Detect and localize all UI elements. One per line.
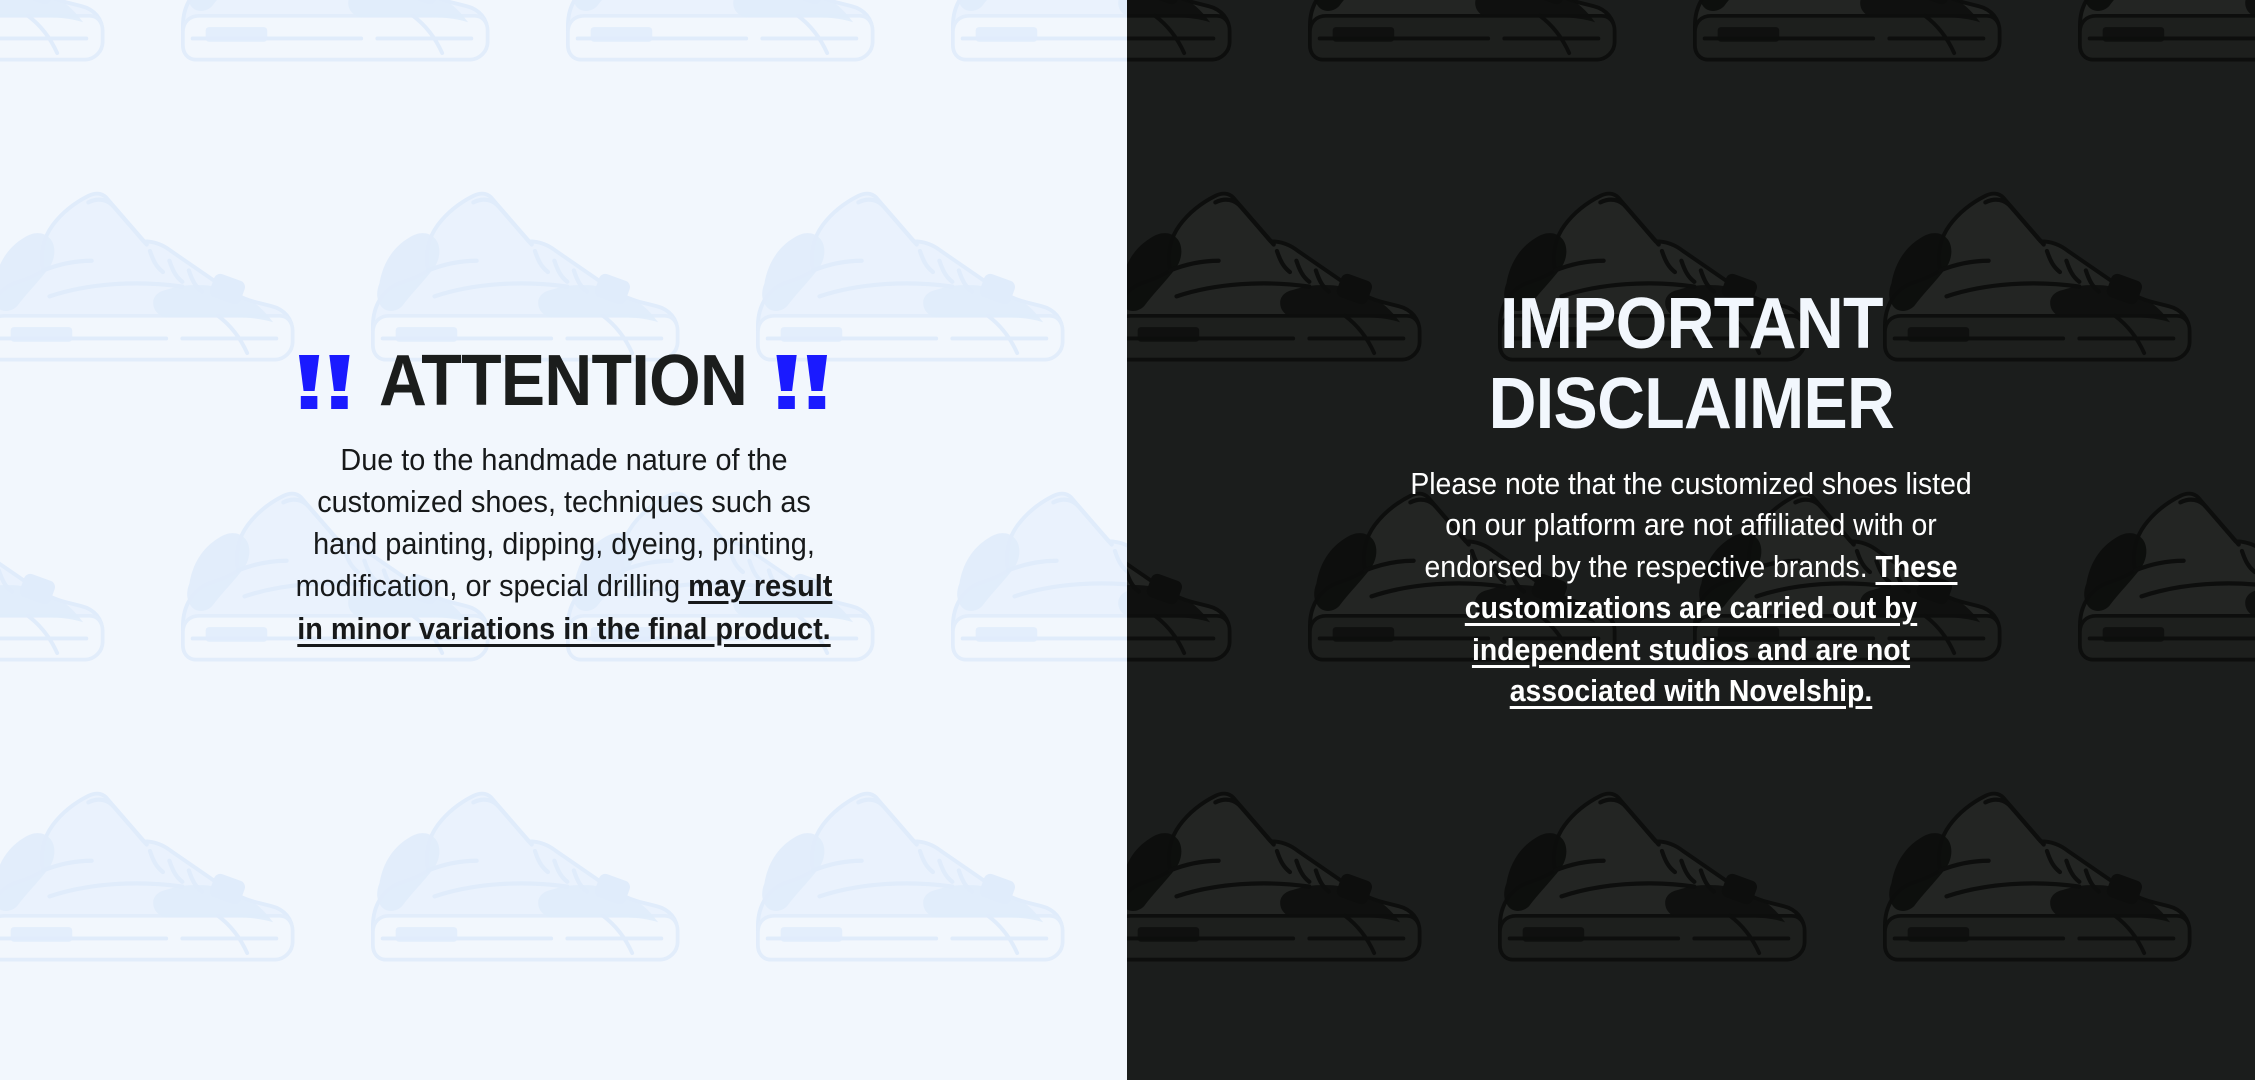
disclaimer-heading: IMPORTANT DISCLAIMER (1488, 288, 1894, 440)
disclaimer-content: IMPORTANT DISCLAIMER Please note that th… (1127, 0, 2255, 713)
attention-body: Due to the handmade nature of the custom… (285, 439, 843, 650)
double-exclamation-icon-right (775, 353, 829, 409)
attention-heading-text: ATTENTION (379, 345, 747, 417)
disclaimer-body: Please note that the customized shoes li… (1403, 464, 1980, 713)
double-exclamation-icon-left (298, 353, 352, 409)
disclaimer-heading-line1: IMPORTANT (1488, 288, 1894, 360)
attention-heading: ATTENTION (298, 345, 830, 417)
split-banner: ATTENTION Due to the handmade nature of … (0, 0, 2255, 1080)
attention-panel: ATTENTION Due to the handmade nature of … (0, 0, 1127, 1080)
attention-content: ATTENTION Due to the handmade nature of … (0, 0, 1127, 650)
disclaimer-panel: IMPORTANT DISCLAIMER Please note that th… (1127, 0, 2255, 1080)
disclaimer-heading-line2: DISCLAIMER (1488, 368, 1894, 440)
